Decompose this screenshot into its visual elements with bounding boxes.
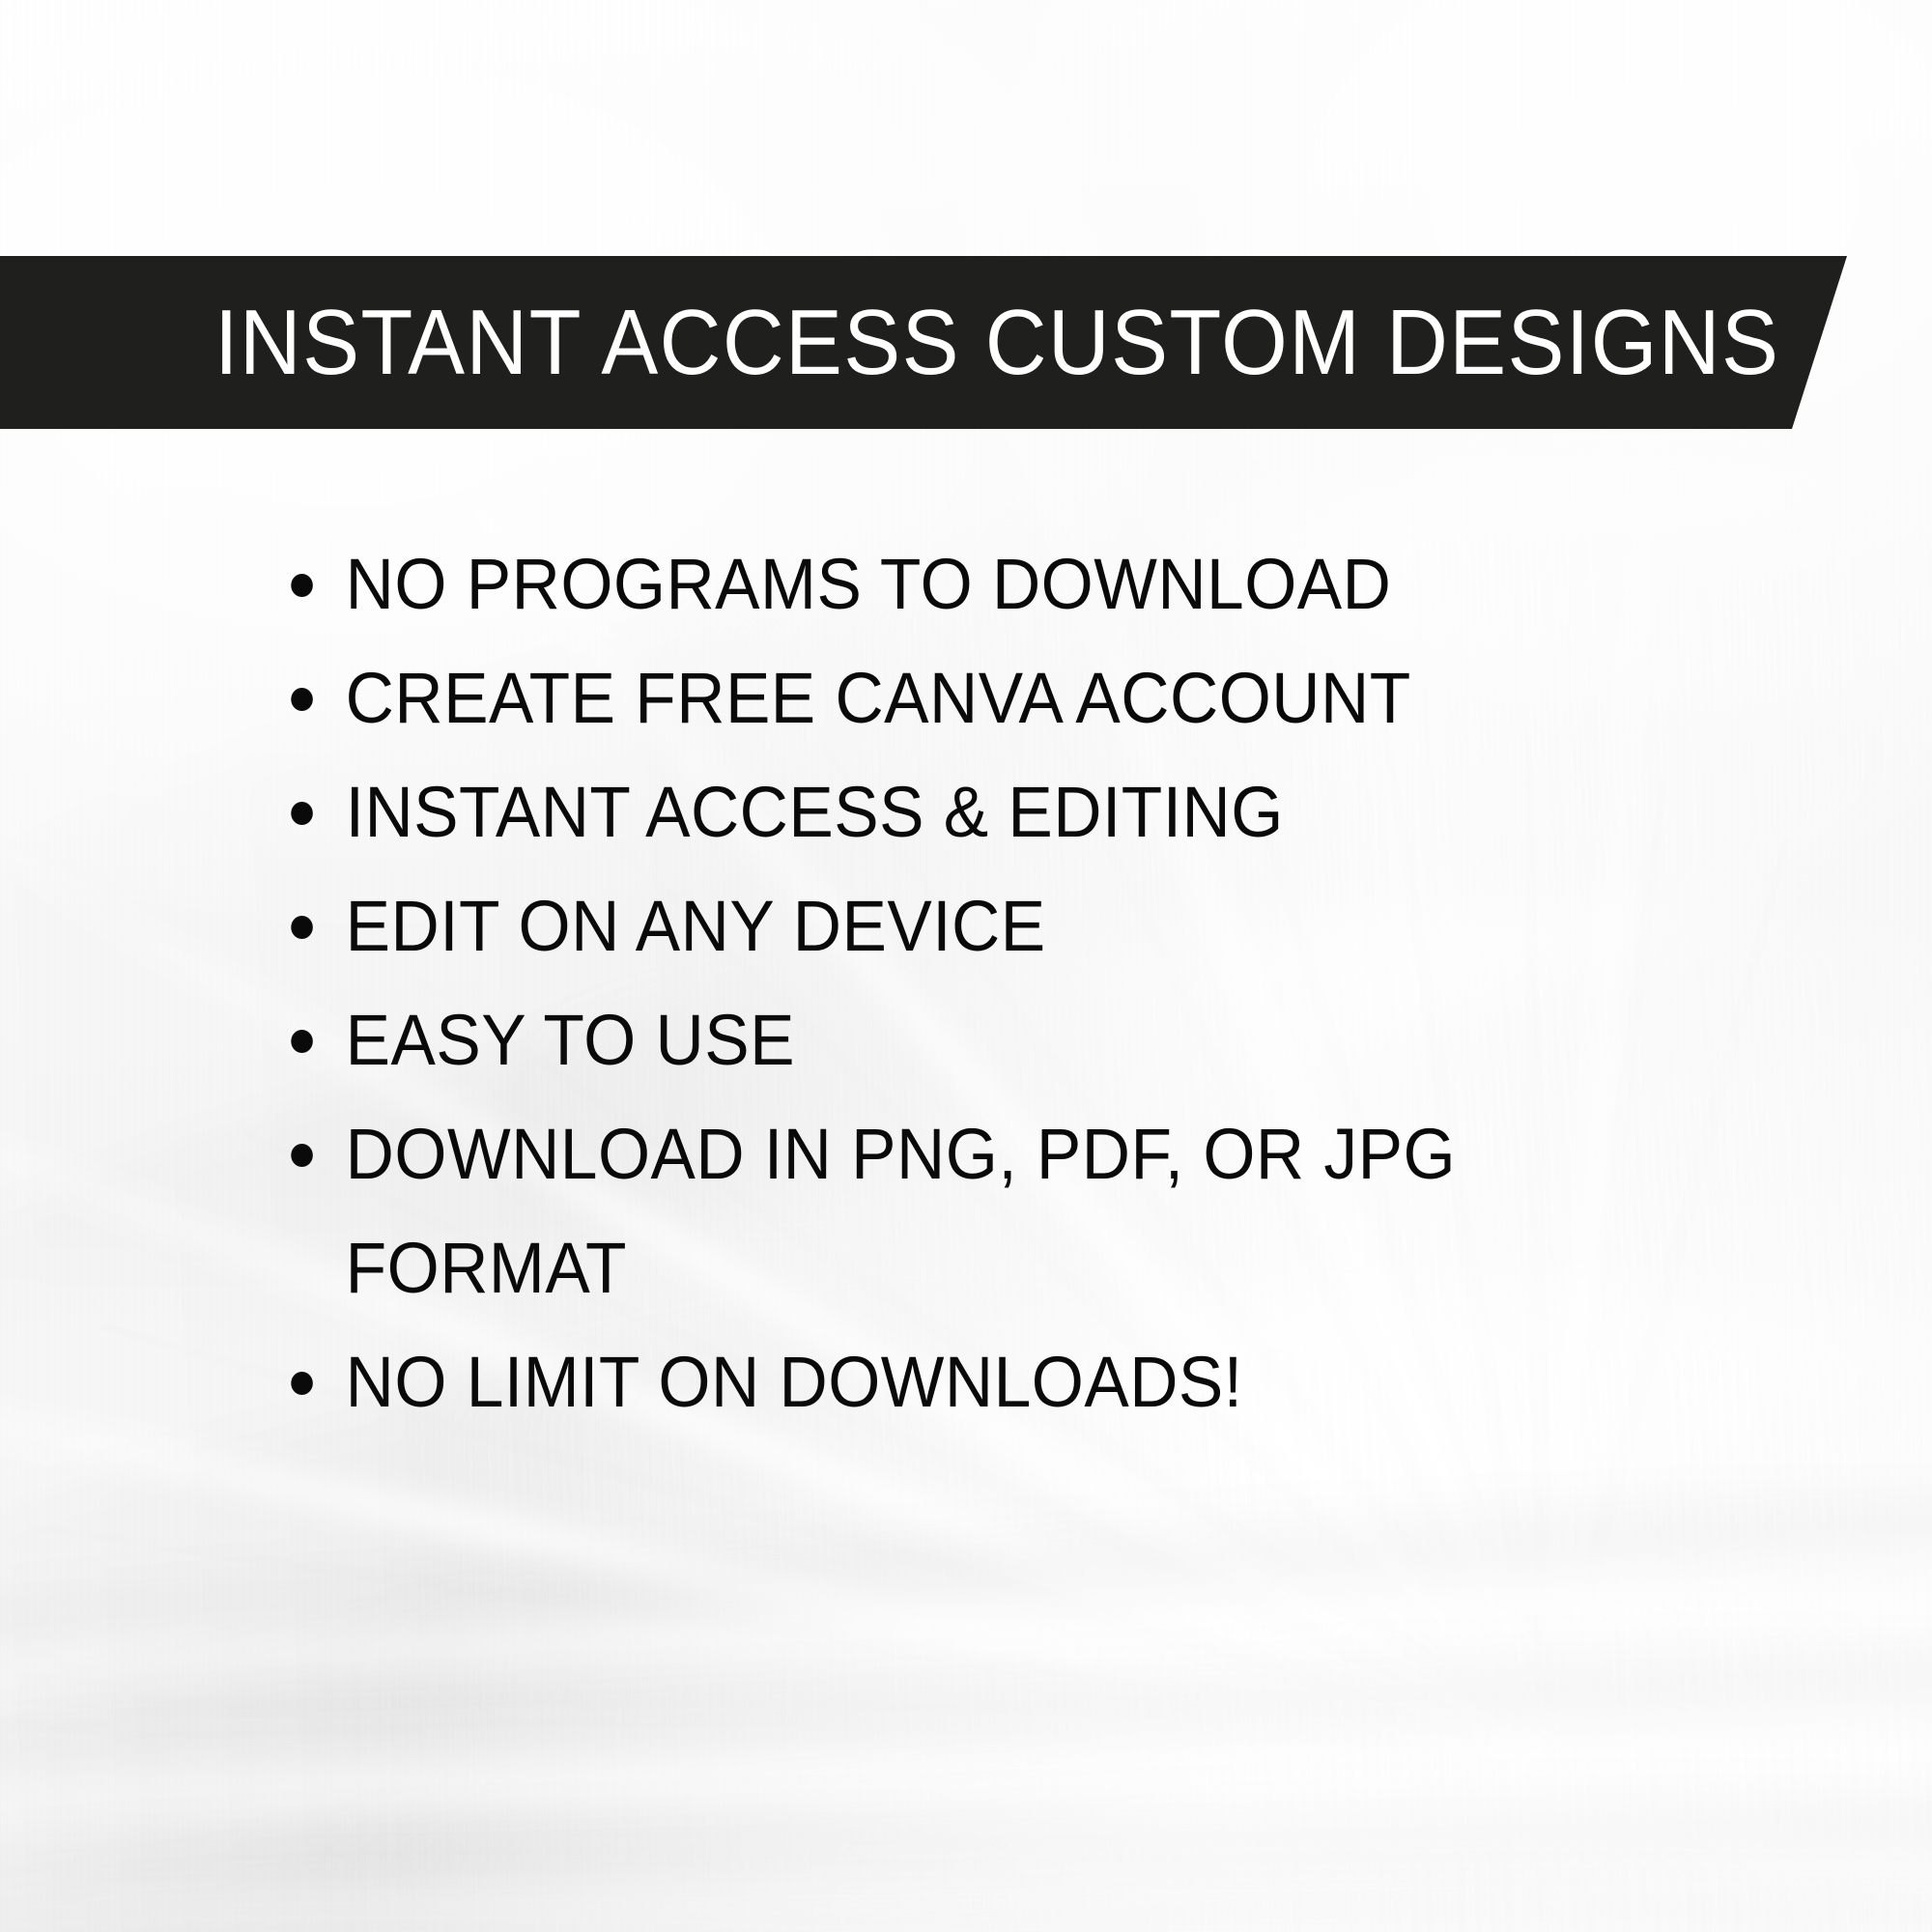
list-item-label: NO PROGRAMS TO DOWNLOAD xyxy=(346,527,1597,641)
list-item: INSTANT ACCESS & EDITING xyxy=(280,755,1597,869)
fabric-wave-4 xyxy=(0,1848,1932,1932)
poster-canvas: INSTANT ACCESS CUSTOM DESIGNS NO PROGRAM… xyxy=(0,0,1932,1932)
list-item-label: DOWNLOAD IN PNG, PDF, OR JPG FORMAT xyxy=(346,1097,1597,1325)
list-item-label: NO LIMIT ON DOWNLOADS! xyxy=(346,1325,1597,1439)
fabric-wave-3 xyxy=(0,1749,1932,1932)
silk-sheet-5 xyxy=(0,1739,1932,1932)
bullet-dot-icon xyxy=(291,688,313,711)
list-item-label: EASY TO USE xyxy=(346,983,1597,1097)
list-item: EASY TO USE xyxy=(280,983,1597,1097)
list-item: CREATE FREE CANVA ACCOUNT xyxy=(280,641,1597,755)
headline-banner: INSTANT ACCESS CUSTOM DESIGNS xyxy=(0,256,1850,429)
list-item: NO LIMIT ON DOWNLOADS! xyxy=(280,1325,1597,1439)
bullet-dot-icon xyxy=(291,1144,313,1167)
bullet-dot-icon xyxy=(291,1030,313,1053)
crease-ray-1 xyxy=(0,1430,1546,1741)
list-item: DOWNLOAD IN PNG, PDF, OR JPG FORMAT xyxy=(280,1097,1597,1325)
fabric-wave-2 xyxy=(0,1598,1932,1832)
list-item: EDIT ON ANY DEVICE xyxy=(280,869,1597,983)
bullet-dot-icon xyxy=(291,574,313,597)
list-item: NO PROGRAMS TO DOWNLOAD xyxy=(280,527,1597,641)
banner-title: INSTANT ACCESS CUSTOM DESIGNS xyxy=(214,297,1779,389)
silk-sheet-4 xyxy=(0,1469,1932,1932)
feature-list: NO PROGRAMS TO DOWNLOAD CREATE FREE CANV… xyxy=(280,527,1681,1439)
list-item-label: INSTANT ACCESS & EDITING xyxy=(346,755,1597,869)
bullet-dot-icon xyxy=(291,802,313,825)
list-item-label: CREATE FREE CANVA ACCOUNT xyxy=(346,641,1597,755)
bullet-dot-icon xyxy=(291,916,313,939)
fabric-wave-1 xyxy=(0,1446,1932,1702)
list-item-label: EDIT ON ANY DEVICE xyxy=(346,869,1597,983)
bullet-dot-icon xyxy=(291,1372,313,1395)
